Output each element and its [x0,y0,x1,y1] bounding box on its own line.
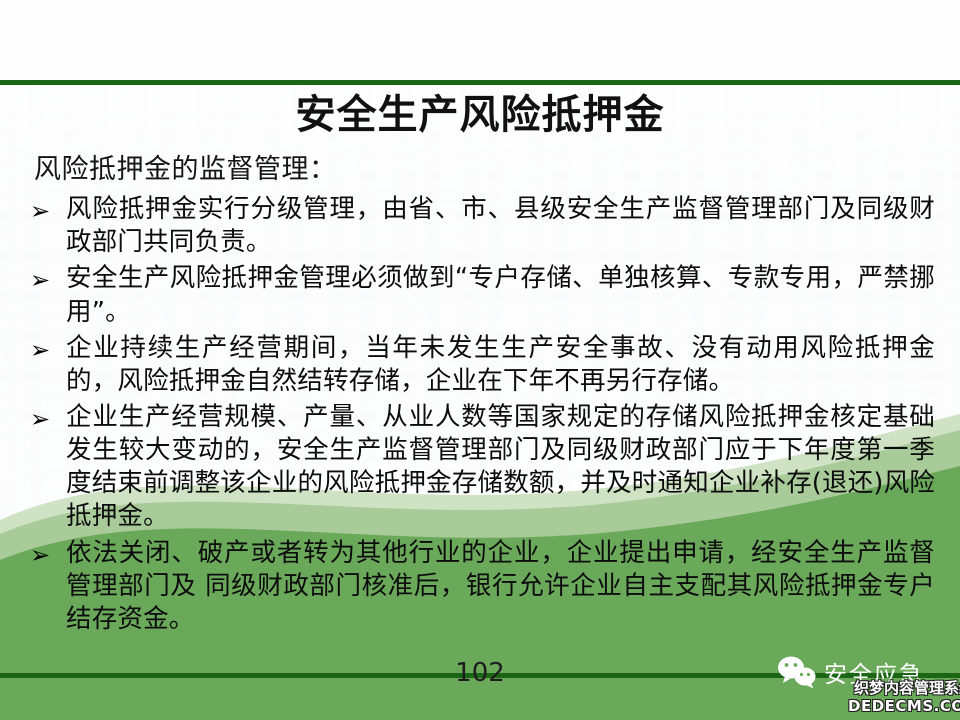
slide-canvas: 安全生产风险抵押金 风险抵押金的监督管理： ➢ 风险抵押金实行分级管理，由省、市… [0,0,960,720]
arrowhead-bullet-icon: ➢ [30,537,66,571]
site-watermark: 织梦内容管理系统 DEDECMS.COM [848,681,960,714]
list-item: ➢ 安全生产风险抵押金管理必须做到“专户存储、单独核算、专款专用，严禁挪用”。 [30,262,935,328]
bullet-list: ➢ 风险抵押金实行分级管理，由省、市、县级安全生产监督管理部门及同级财政部门共同… [30,193,935,636]
section-lead: 风险抵押金的监督管理： [30,152,935,187]
list-item: ➢ 企业生产经营规模、产量、从业人数等国家规定的存储风险抵押金核定基础发生较大变… [30,401,935,534]
list-item-text: 企业持续生产经营期间，当年未发生生产安全事故、没有动用风险抵押金的，风险抵押金自… [66,332,935,398]
list-item-text: 依法关闭、破产或者转为其他行业的企业，企业提出申请，经安全生产监督管理部门及 同… [66,537,935,636]
top-divider-rule [0,80,960,85]
arrowhead-bullet-icon: ➢ [30,193,66,227]
list-item: ➢ 依法关闭、破产或者转为其他行业的企业，企业提出申请，经安全生产监督管理部门及… [30,537,935,636]
list-item: ➢ 企业持续生产经营期间，当年未发生生产安全事故、没有动用风险抵押金的，风险抵押… [30,332,935,398]
arrowhead-bullet-icon: ➢ [30,262,66,296]
watermark-chinese: 织梦内容管理系统 [848,681,960,696]
slide-body: 风险抵押金的监督管理： ➢ 风险抵押金实行分级管理，由省、市、县级安全生产监督管… [30,152,935,639]
wechat-icon [776,655,818,689]
page-title: 安全生产风险抵押金 [0,93,960,137]
arrowhead-bullet-icon: ➢ [30,332,66,366]
list-item-text: 风险抵押金实行分级管理，由省、市、县级安全生产监督管理部门及同级财政部门共同负责… [66,193,935,259]
arrowhead-bullet-icon: ➢ [30,401,66,435]
list-item: ➢ 风险抵押金实行分级管理，由省、市、县级安全生产监督管理部门及同级财政部门共同… [30,193,935,259]
list-item-text: 企业生产经营规模、产量、从业人数等国家规定的存储风险抵押金核定基础发生较大变动的… [66,401,935,534]
watermark-domain: DEDECMS.COM [848,699,960,714]
list-item-text: 安全生产风险抵押金管理必须做到“专户存储、单独核算、专款专用，严禁挪用”。 [66,262,935,328]
